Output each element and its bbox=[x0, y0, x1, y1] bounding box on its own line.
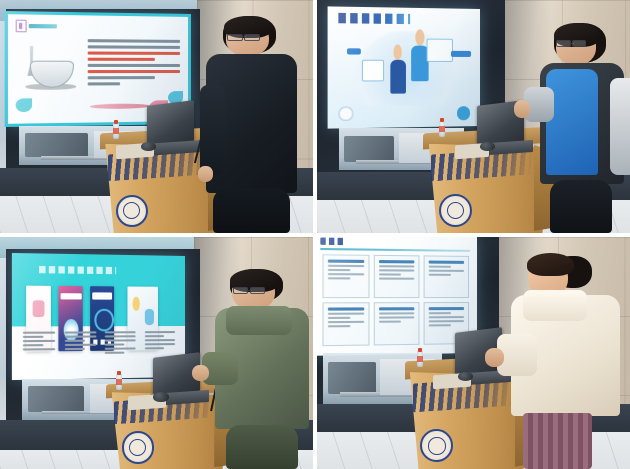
university-emblem bbox=[122, 431, 154, 463]
university-emblem bbox=[116, 195, 148, 227]
hand bbox=[514, 100, 530, 118]
illustration-tag bbox=[346, 48, 360, 54]
computer-mouse bbox=[153, 392, 169, 401]
sleeve bbox=[610, 78, 630, 175]
illustration-tag bbox=[450, 51, 471, 57]
brush-stroke-decor bbox=[89, 103, 150, 109]
blue-vest bbox=[546, 69, 598, 175]
arm bbox=[200, 85, 225, 174]
illustration-figure bbox=[390, 60, 405, 93]
slide-grid bbox=[322, 254, 468, 346]
flower-petal-icon bbox=[15, 98, 32, 112]
hand bbox=[192, 365, 209, 382]
grid-cell bbox=[322, 254, 369, 298]
illustration-card bbox=[362, 60, 384, 81]
panel-top-right bbox=[317, 0, 630, 233]
water-bottle bbox=[113, 123, 119, 139]
skirt bbox=[523, 413, 592, 469]
slide-badge bbox=[15, 20, 56, 33]
water-bottle bbox=[417, 351, 423, 367]
illustration-figure bbox=[411, 46, 428, 82]
grid-cell bbox=[424, 255, 469, 298]
slide-divider bbox=[321, 248, 471, 252]
computer-mouse bbox=[458, 372, 474, 381]
glasses-icon bbox=[556, 40, 586, 45]
slide-title bbox=[39, 266, 116, 274]
slide-text-grid bbox=[317, 237, 477, 356]
slide-text-columns bbox=[23, 330, 175, 371]
slide-logo bbox=[338, 107, 352, 121]
slide-title bbox=[338, 13, 409, 25]
presenter bbox=[197, 9, 313, 233]
slide-title bbox=[321, 238, 345, 246]
collar bbox=[523, 290, 587, 320]
presenter bbox=[536, 12, 630, 233]
photo-collage bbox=[0, 0, 630, 469]
panel-bottom-left bbox=[0, 237, 313, 469]
illustration-card bbox=[426, 39, 452, 62]
bowl-illustration bbox=[23, 45, 79, 91]
slide-body-text bbox=[87, 39, 179, 90]
hand bbox=[198, 166, 213, 182]
projection-screen bbox=[317, 237, 477, 356]
lower-body bbox=[226, 425, 298, 469]
hair bbox=[527, 253, 575, 276]
grid-cell bbox=[374, 254, 420, 297]
hand bbox=[485, 348, 504, 367]
panel-bottom-right bbox=[317, 237, 630, 469]
hood bbox=[226, 306, 292, 335]
panel-top-left bbox=[0, 0, 313, 233]
slide-corner-icon bbox=[456, 107, 469, 120]
grid-cell bbox=[322, 302, 369, 346]
lower-body bbox=[550, 180, 612, 233]
text-column bbox=[23, 331, 55, 372]
water-bottle bbox=[116, 374, 122, 390]
text-column bbox=[64, 331, 96, 371]
glasses-icon bbox=[233, 287, 265, 292]
grid-cell bbox=[374, 302, 420, 345]
text-column bbox=[105, 331, 136, 371]
glasses-icon bbox=[227, 34, 259, 39]
presenter bbox=[511, 237, 630, 469]
projection-screen bbox=[327, 7, 480, 129]
university-emblem bbox=[439, 194, 472, 227]
water-bottle bbox=[439, 121, 445, 137]
slide-activity-background bbox=[327, 7, 480, 129]
lower-body bbox=[213, 188, 289, 233]
presenter bbox=[213, 260, 313, 469]
